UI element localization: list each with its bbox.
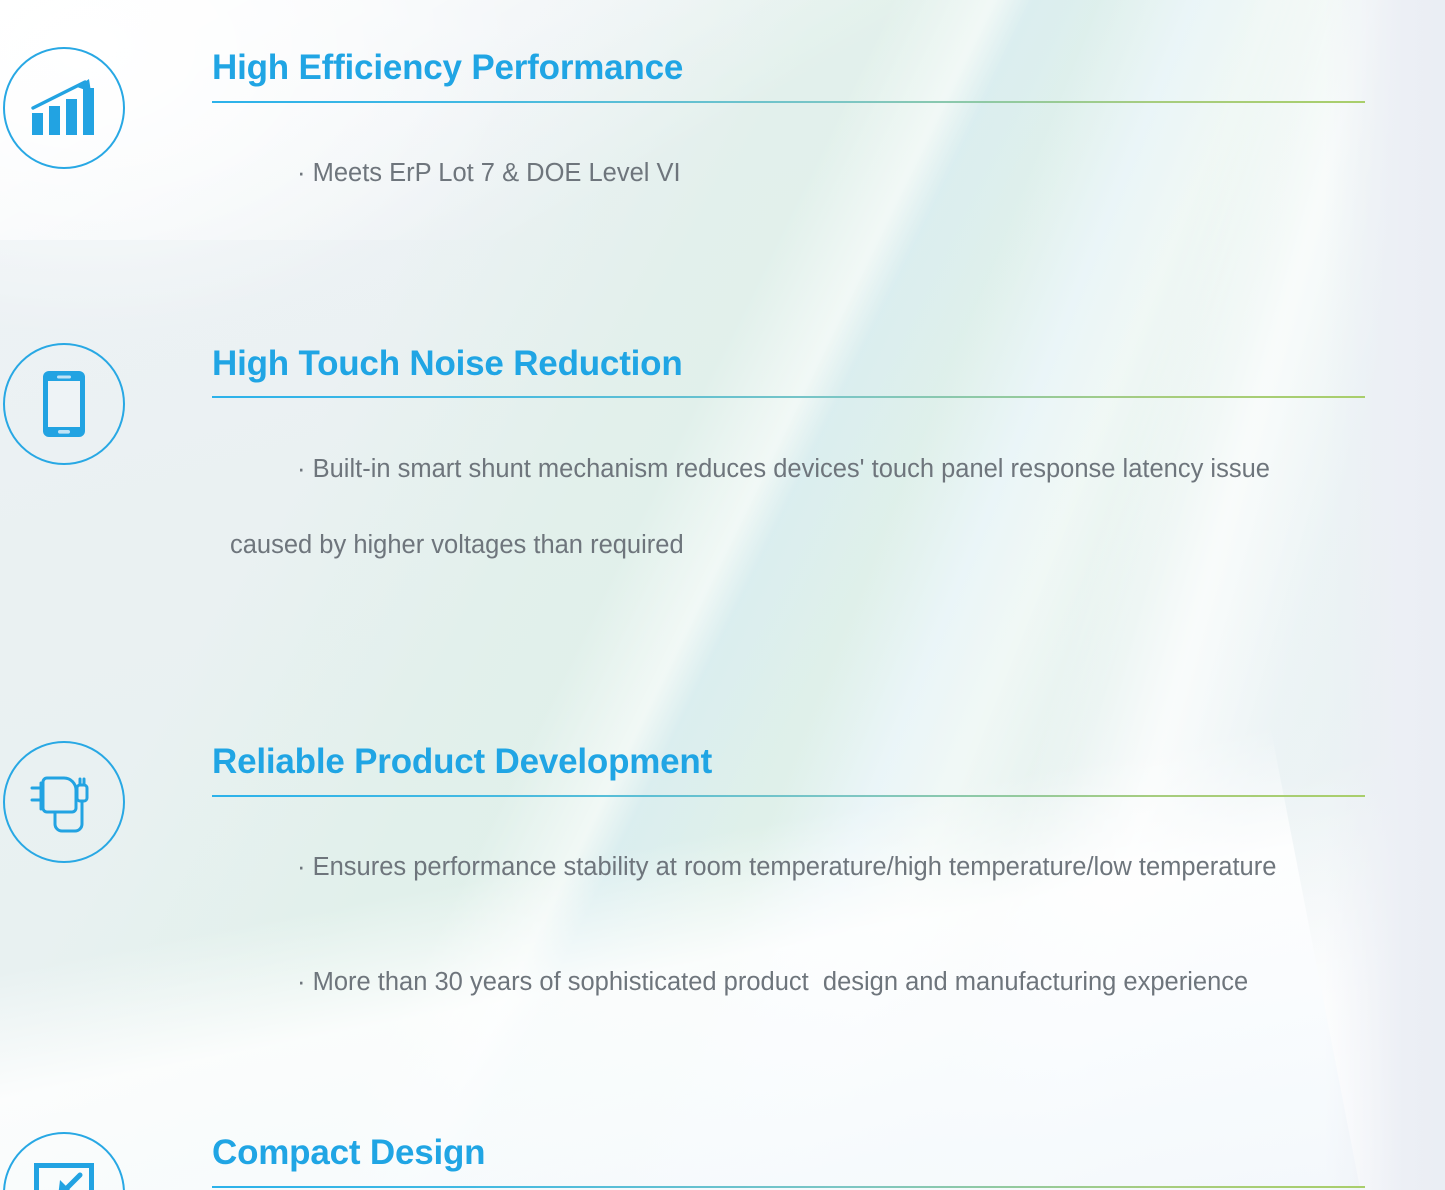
feature-bullet-text: · Meets ErP Lot 7 & DOE Level VI [297, 159, 681, 187]
feature-icon-wrap [0, 741, 128, 863]
feature-bullet-continuation: caused by higher voltages than required [212, 526, 1365, 564]
feature-item: Compact Design · Our product features a … [0, 1132, 1445, 1190]
feature-bullet-text: · Ensures performance stability at room … [297, 853, 1276, 881]
feature-description: · Ensures performance stability at room … [212, 810, 1365, 1040]
feature-item: High Efficiency Performance · Meets ErP … [0, 47, 1445, 231]
feature-list: High Efficiency Performance · Meets ErP … [0, 47, 1445, 1190]
feature-content: High Touch Noise Reduction · Built-in sm… [128, 343, 1445, 641]
compact-resize-icon [3, 1132, 125, 1190]
growth-bar-chart-icon [3, 47, 125, 169]
feature-content: Compact Design · Our product features a … [128, 1132, 1445, 1190]
feature-bullet: · More than 30 years of sophisticated pr… [212, 924, 1365, 1039]
feature-description: · Meets ErP Lot 7 & DOE Level VI [212, 116, 1365, 231]
feature-title: High Efficiency Performance [212, 50, 1365, 87]
feature-divider [212, 1186, 1365, 1188]
feature-content: High Efficiency Performance · Meets ErP … [128, 47, 1445, 231]
feature-bullet-text: · Built-in smart shunt mechanism reduces… [297, 455, 1270, 483]
feature-icon-wrap [0, 343, 128, 465]
feature-title: Reliable Product Development [212, 744, 1365, 781]
feature-divider [212, 795, 1365, 797]
feature-divider [212, 101, 1365, 103]
feature-highlights-page: High Efficiency Performance · Meets ErP … [0, 0, 1445, 1190]
feature-description: · Built-in smart shunt mechanism reduces… [212, 411, 1365, 641]
feature-item: High Touch Noise Reduction · Built-in sm… [0, 343, 1445, 641]
power-adapter-icon [3, 741, 125, 863]
feature-content: Reliable Product Development · Ensures p… [128, 741, 1445, 1039]
feature-divider [212, 396, 1365, 398]
feature-icon-wrap [0, 1132, 128, 1190]
feature-title: Compact Design [212, 1135, 1365, 1172]
feature-title: High Touch Noise Reduction [212, 346, 1365, 383]
feature-item: Reliable Product Development · Ensures p… [0, 741, 1445, 1039]
feature-bullet: · Built-in smart shunt mechanism reduces… [212, 411, 1365, 641]
smartphone-icon [3, 343, 125, 465]
feature-bullet: · Meets ErP Lot 7 & DOE Level VI [212, 116, 1365, 231]
feature-bullet-text: · More than 30 years of sophisticated pr… [297, 968, 1248, 996]
feature-icon-wrap [0, 47, 128, 169]
feature-bullet: · Ensures performance stability at room … [212, 810, 1365, 925]
